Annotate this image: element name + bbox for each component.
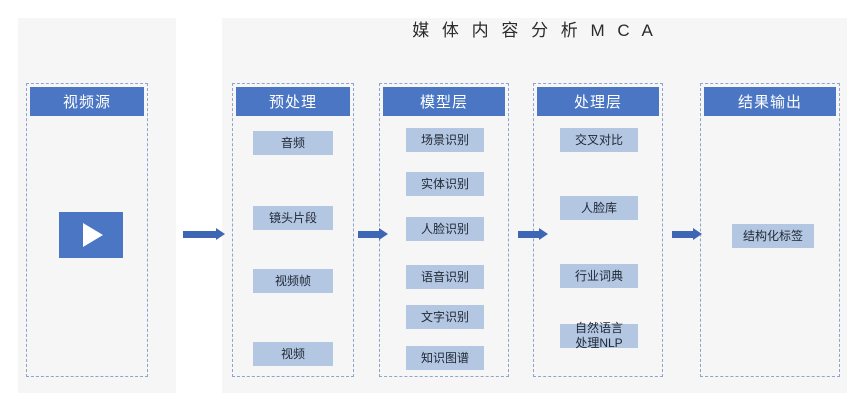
list-item[interactable]: 结构化标签 [732, 224, 814, 248]
column-header-video-source: 视频源 [30, 87, 144, 116]
list-item[interactable]: 人脸库 [560, 196, 638, 220]
column-model-layer: 模型层 场景识别 实体识别 人脸识别 语音识别 文字识别 知识图谱 [379, 83, 509, 377]
diagram-canvas: 媒 体 内 容 分 析 M C A 视频源 预处理 音频 镜头片段 视频帧 视频… [0, 0, 859, 411]
column-header-preprocessing: 预处理 [236, 87, 350, 116]
arrow-shaft [518, 231, 539, 238]
arrow-head [539, 228, 548, 240]
list-item[interactable]: 场景识别 [406, 128, 484, 152]
arrow-right-icon [518, 228, 548, 240]
column-processing-layer: 处理层 交叉对比 人脸库 行业词典 自然语言 处理NLP [533, 83, 663, 377]
column-result-output: 结果输出 结构化标签 [700, 83, 840, 377]
list-item[interactable]: 文字识别 [406, 305, 484, 329]
list-item[interactable]: 自然语言 处理NLP [560, 324, 638, 348]
arrow-head [216, 228, 225, 240]
column-header-processing-layer: 处理层 [537, 87, 659, 116]
column-video-source: 视频源 [26, 83, 148, 377]
list-item[interactable]: 实体识别 [406, 172, 484, 196]
arrow-right-icon [358, 228, 388, 240]
video-play-icon [59, 212, 123, 258]
arrow-right-icon [183, 228, 225, 240]
list-item[interactable]: 视频帧 [253, 269, 333, 293]
diagram-title: 媒 体 内 容 分 析 M C A [222, 20, 847, 42]
column-preprocessing: 预处理 音频 镜头片段 视频帧 视频 [232, 83, 354, 377]
arrow-shaft [183, 231, 216, 238]
list-item[interactable]: 知识图谱 [406, 346, 484, 370]
column-header-result-output: 结果输出 [704, 87, 836, 116]
list-item[interactable]: 人脸识别 [406, 217, 484, 241]
arrow-head [379, 228, 388, 240]
list-item[interactable]: 音频 [253, 131, 333, 155]
list-item[interactable]: 镜头片段 [253, 206, 333, 230]
arrow-shaft [358, 231, 379, 238]
list-item[interactable]: 行业词典 [560, 264, 638, 288]
column-header-model-layer: 模型层 [383, 87, 505, 116]
list-item[interactable]: 视频 [253, 342, 333, 366]
arrow-shaft [672, 231, 693, 238]
play-triangle-icon [83, 223, 103, 247]
arrow-right-icon [672, 228, 702, 240]
arrow-head [693, 228, 702, 240]
list-item[interactable]: 交叉对比 [560, 128, 638, 152]
list-item[interactable]: 语音识别 [406, 265, 484, 289]
